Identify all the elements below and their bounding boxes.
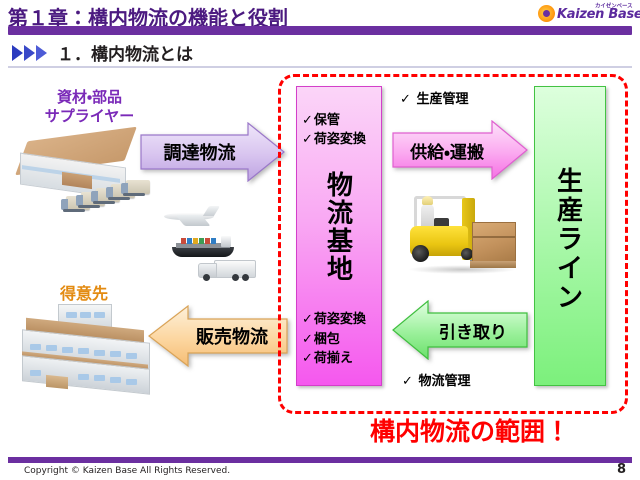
footer-divider-bar — [8, 457, 632, 463]
production-control-label: ✓ 生産管理 — [400, 88, 468, 107]
supplier-label-line1: 資材・部品 — [22, 88, 157, 107]
page-number: 8 — [617, 462, 626, 477]
customer-label: 得意先 — [24, 280, 144, 304]
truck-icon — [198, 258, 256, 283]
arrow-left-shape — [148, 305, 288, 367]
section-heading-label: １．構内物流とは — [57, 40, 193, 65]
logo-brand-text: Kaizen Base — [557, 7, 640, 22]
logistics-control-label: ✓ 物流管理 — [402, 370, 470, 389]
check-icon: ✓ — [400, 92, 411, 107]
office-building-icon — [14, 302, 164, 392]
logistics-base-top-items: ✓保管 ✓荷姿変換 — [302, 112, 382, 150]
section-heading: １．構内物流とは — [12, 40, 193, 65]
logistics-base-title: 物 流 基 地 — [312, 172, 368, 284]
kaizen-base-logo: カイゼンベース Kaizen Base — [538, 2, 634, 26]
slide-canvas: 第１章：構内物流の機能と役割 カイゼンベース Kaizen Base １．構内物… — [0, 0, 640, 480]
scope-caption: 構内物流の範囲！ — [330, 412, 610, 448]
list-item: ✓荷姿変換 — [302, 131, 382, 150]
copyright-text: Copyright © Kaizen Base All Rights Reser… — [24, 466, 230, 476]
check-icon: ✓ — [402, 374, 413, 389]
sun-gear-icon — [538, 5, 555, 22]
section-underline — [8, 66, 632, 68]
warehouse-with-trucks-icon — [18, 130, 153, 210]
check-icon: ✓ — [302, 351, 313, 366]
arrow-right-shape — [140, 122, 285, 182]
arrow-procurement-logistics: 調達物流 — [140, 122, 285, 182]
check-icon: ✓ — [302, 312, 313, 327]
list-item: ✓荷姿変換 — [302, 310, 384, 330]
check-icon: ✓ — [302, 132, 313, 147]
chevron-right-icon — [12, 45, 47, 61]
production-line-title: 生 産 ラ イ ン — [552, 168, 588, 314]
logistics-base-bottom-items: ✓荷姿変換 ✓梱包 ✓荷揃え — [302, 310, 384, 369]
list-item: ✓保管 — [302, 112, 382, 131]
check-icon: ✓ — [302, 113, 313, 128]
header-divider-bar — [8, 26, 632, 35]
list-item: ✓荷揃え — [302, 349, 384, 369]
container-ship-icon — [172, 236, 234, 258]
airplane-icon — [160, 205, 216, 227]
forklift-with-pallet-icon — [404, 192, 520, 288]
list-item: ✓梱包 — [302, 330, 384, 350]
check-icon: ✓ — [302, 332, 313, 347]
arrow-sales-logistics: 販売物流 — [148, 305, 288, 367]
supplier-label-line2: サプライヤー — [22, 107, 157, 126]
supplier-label: 資材・部品 サプライヤー — [22, 88, 157, 126]
